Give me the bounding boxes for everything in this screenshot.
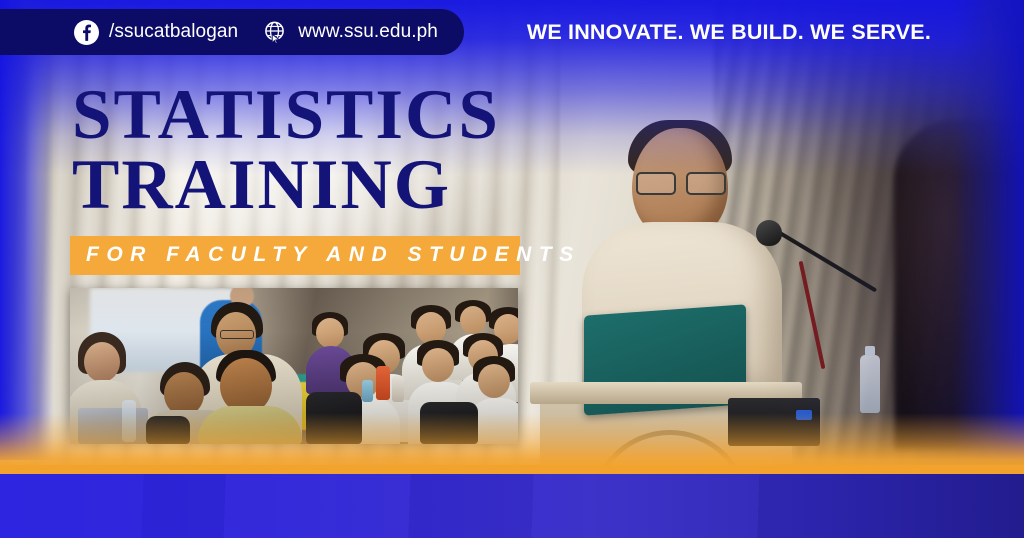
facebook-icon[interactable] — [74, 20, 99, 45]
headline-line-1: STATISTICS — [72, 84, 500, 146]
right-blue-overlay — [954, 0, 1024, 460]
statistics-training-banner: TATE UNIV STATISTICS TRAINING FOR FACULT… — [0, 0, 1024, 538]
headline-line-2: TRAINING — [72, 154, 500, 216]
contact-info-pill: /ssucatbalogan www.ssu.edu.ph — [0, 9, 464, 55]
orange-accent-bar — [0, 465, 1024, 474]
institution-tagline: WE INNOVATE. WE BUILD. WE SERVE. — [527, 0, 1024, 64]
footer-bar — [0, 474, 1024, 538]
left-blue-overlay — [0, 0, 54, 460]
website-url[interactable]: www.ssu.edu.ph — [298, 21, 438, 43]
globe-web-icon[interactable] — [262, 19, 288, 45]
facebook-handle[interactable]: /ssucatbalogan — [109, 21, 238, 43]
page-title: STATISTICS TRAINING — [72, 84, 500, 217]
subtitle-text: FOR FACULTY AND STUDENTS — [86, 243, 506, 267]
footer-texture — [0, 474, 1024, 538]
subtitle-banner: FOR FACULTY AND STUDENTS — [70, 236, 520, 275]
orange-gradient-band — [0, 413, 1024, 473]
